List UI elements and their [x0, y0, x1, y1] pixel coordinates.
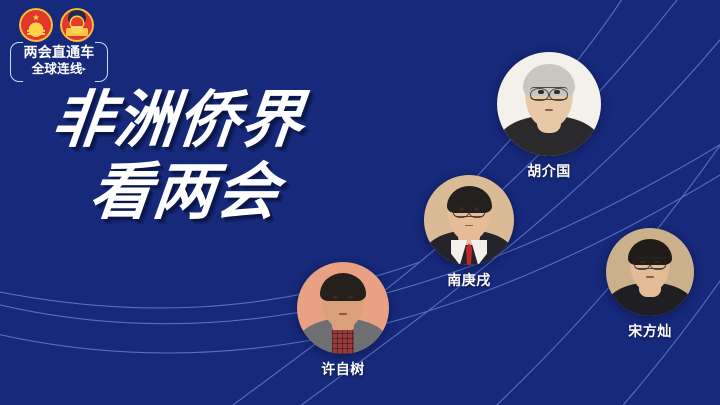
cppcc-emblem-icon — [60, 8, 94, 42]
national-emblem-icon — [19, 8, 53, 42]
portrait-photo[interactable] — [424, 175, 514, 265]
portrait-glasses — [453, 205, 485, 217]
portrait-photo[interactable] — [497, 52, 601, 156]
headline-line-1: 非洲侨界 — [49, 88, 386, 154]
portrait-name-label: 宋方灿 — [606, 321, 694, 341]
portrait-face-illustration — [606, 228, 694, 316]
program-logo[interactable]: 两会直通车 全球连线▸ — [10, 6, 108, 80]
portrait-face-illustration — [424, 175, 514, 265]
portrait-face-illustration — [297, 262, 389, 354]
portrait-name-label: 南庚戌 — [424, 270, 514, 290]
portrait-hu-jieguo[interactable]: 胡介国 — [497, 52, 601, 181]
portrait-nan-gengxu[interactable]: 南庚戌 — [424, 175, 514, 290]
logo-title-line-1: 两会直通车 — [10, 43, 108, 61]
portrait-mouth — [339, 313, 346, 315]
portrait-eye-r — [348, 296, 354, 299]
logo-badge: 两会直通车 全球连线▸ — [10, 42, 108, 80]
poster-canvas: 两会直通车 全球连线▸ 非洲侨界 看两会 胡介国南庚戌宋方灿许自树 — [0, 0, 720, 405]
headline-line-2: 看两会 — [87, 160, 386, 226]
logo-line-2-text: 全球连线 — [32, 62, 83, 76]
portrait-glasses — [634, 257, 666, 269]
portrait-photo[interactable] — [297, 262, 389, 354]
portrait-plaid-shirt — [332, 330, 354, 354]
portrait-song-fangcan[interactable]: 宋方灿 — [606, 228, 694, 341]
logo-title-line-2: 全球连线▸ — [10, 61, 108, 78]
portrait-xu-zishu[interactable]: 许自树 — [297, 262, 389, 379]
portrait-eye-l — [333, 296, 339, 299]
logo-play-mark-icon: ▸ — [83, 66, 87, 73]
portrait-face-illustration — [497, 52, 601, 156]
portrait-name-label: 许自树 — [297, 359, 389, 379]
portrait-glasses — [530, 87, 567, 100]
page-title: 非洲侨界 看两会 — [52, 88, 382, 226]
portrait-photo[interactable] — [606, 228, 694, 316]
